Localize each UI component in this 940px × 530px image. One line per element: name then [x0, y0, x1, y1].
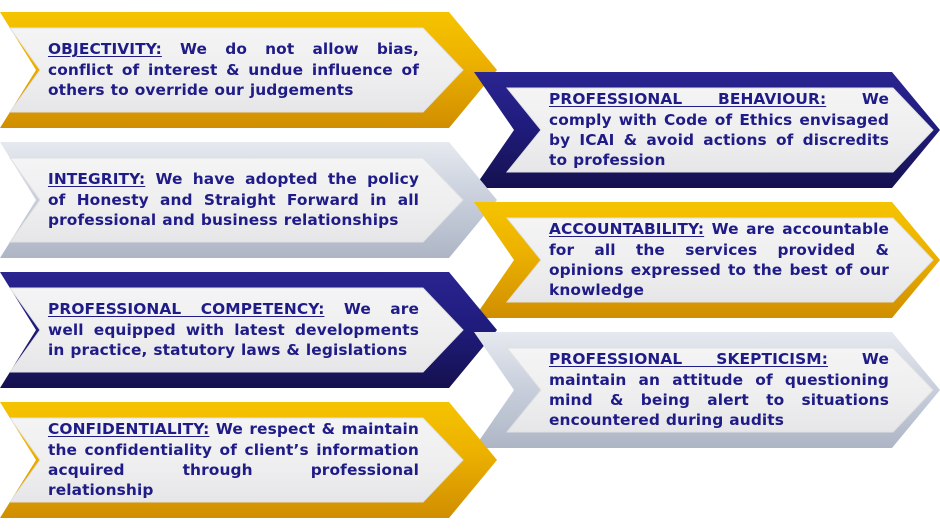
chevron-text-block: PROFESSIONAL COMPETENCY: We are well equ…: [48, 288, 419, 372]
chevron-text-block: INTEGRITY: We have adopted the policy of…: [48, 158, 419, 242]
ethics-chevron-diagram: OBJECTIVITY: We do not allow bias, confl…: [0, 0, 940, 530]
principle-label: CONFIDENTIALITY:: [48, 420, 209, 438]
chevron-text-block: PROFESSIONAL SKEPTICISM: We maintain an …: [549, 348, 889, 432]
chevron-text-block: OBJECTIVITY: We do not allow bias, confl…: [48, 28, 419, 112]
chevron-text-block: PROFESSIONAL BEHAVIOUR: We comply with C…: [549, 88, 889, 172]
principle-text: CONFIDENTIALITY: We respect & maintain t…: [48, 419, 419, 501]
principle-text: PROFESSIONAL COMPETENCY: We are well equ…: [48, 299, 419, 360]
principle-text: ACCOUNTABILITY: We are accountable for a…: [549, 219, 889, 301]
chevron-text-block: CONFIDENTIALITY: We respect & maintain t…: [48, 418, 419, 502]
principle-label: PROFESSIONAL COMPETENCY:: [48, 300, 324, 318]
principle-label: ACCOUNTABILITY:: [549, 220, 704, 238]
principle-label: INTEGRITY:: [48, 170, 145, 188]
principle-text: PROFESSIONAL BEHAVIOUR: We comply with C…: [549, 89, 889, 171]
principle-text: OBJECTIVITY: We do not allow bias, confl…: [48, 39, 419, 100]
principle-text: PROFESSIONAL SKEPTICISM: We maintain an …: [549, 349, 889, 431]
chevron-text-block: ACCOUNTABILITY: We are accountable for a…: [549, 218, 889, 302]
principle-text: INTEGRITY: We have adopted the policy of…: [48, 169, 419, 230]
principle-label: PROFESSIONAL SKEPTICISM:: [549, 350, 828, 368]
principle-label: PROFESSIONAL BEHAVIOUR:: [549, 90, 826, 108]
principle-label: OBJECTIVITY:: [48, 40, 162, 58]
